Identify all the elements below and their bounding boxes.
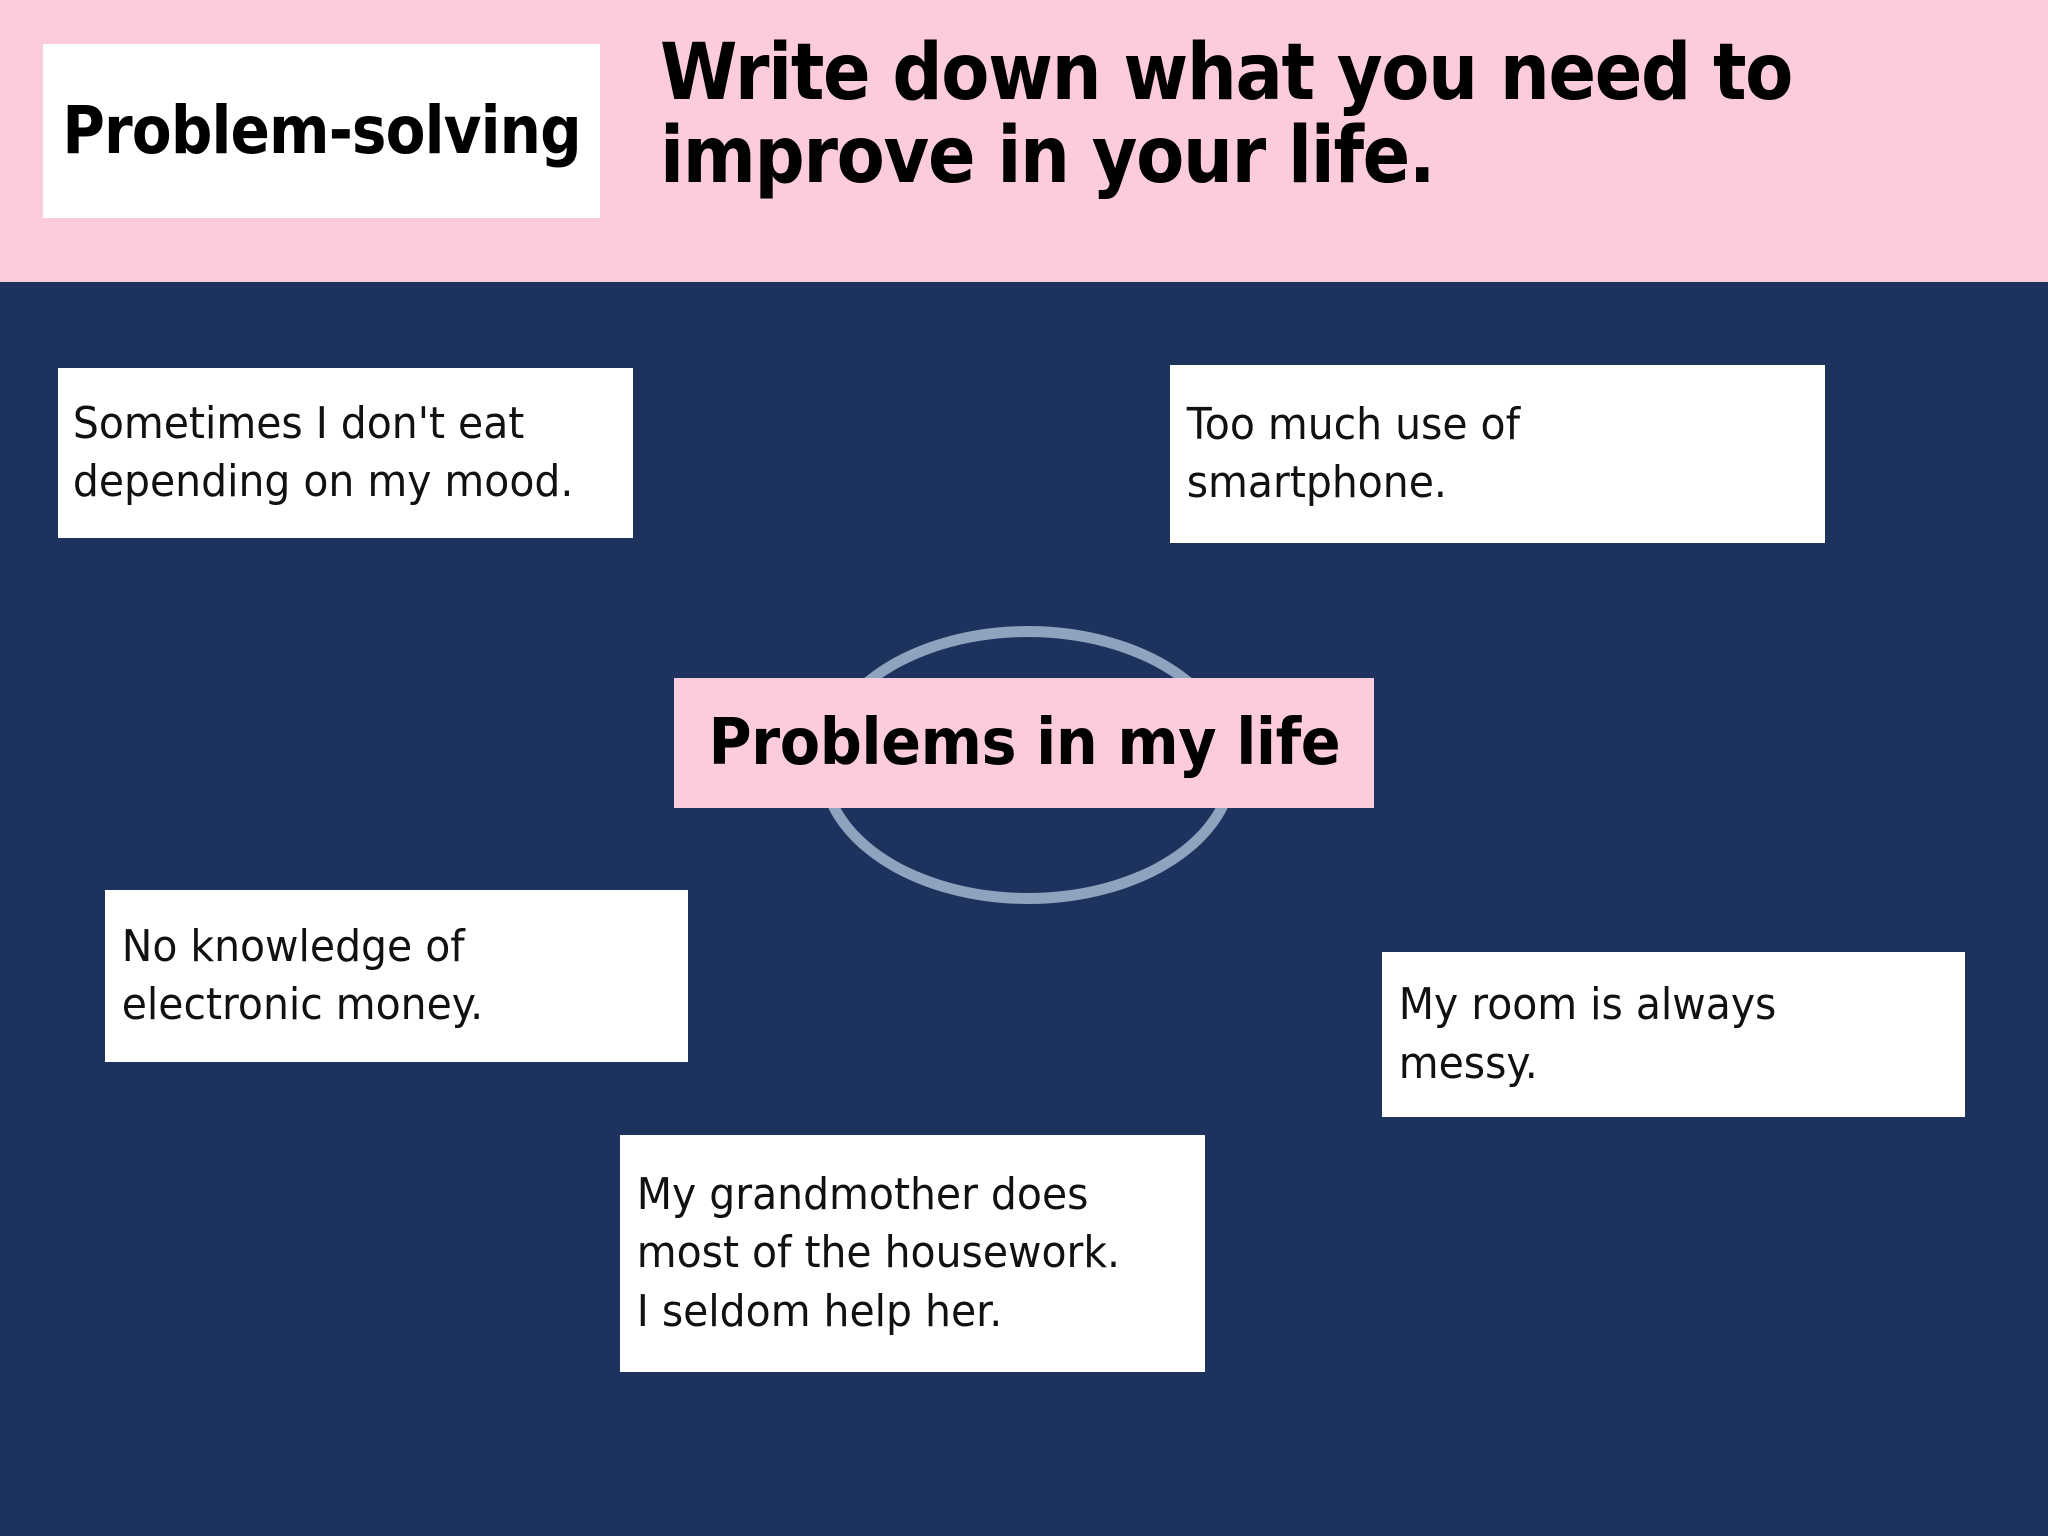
idea-note-text: My grandmother does most of the housewor… bbox=[620, 1166, 1120, 1340]
idea-note: My room is always messy. bbox=[1382, 952, 1965, 1117]
center-topic-box: Problems in my life bbox=[674, 678, 1374, 808]
slide-canvas: Problem-solving Write down what you need… bbox=[0, 0, 2048, 1536]
header-band: Problem-solving Write down what you need… bbox=[0, 0, 2048, 282]
page-title-line-1: Write down what you need to bbox=[660, 32, 1866, 115]
page-title: Write down what you need to improve in y… bbox=[660, 32, 2000, 197]
idea-note-text: Sometimes I don't eat depending on my mo… bbox=[58, 395, 573, 511]
idea-note: My grandmother does most of the housewor… bbox=[620, 1135, 1205, 1372]
idea-note-text: My room is always messy. bbox=[1382, 976, 1924, 1092]
idea-note: Too much use of smartphone. bbox=[1170, 365, 1825, 543]
idea-note-text: No knowledge of electronic money. bbox=[105, 918, 483, 1034]
idea-note: No knowledge of electronic money. bbox=[105, 890, 688, 1062]
section-label-text: Problem-solving bbox=[62, 98, 580, 164]
center-topic-label: Problems in my life bbox=[708, 711, 1340, 775]
idea-note-text: Too much use of smartphone. bbox=[1170, 396, 1779, 512]
idea-note: Sometimes I don't eat depending on my mo… bbox=[58, 368, 633, 538]
page-title-line-2: improve in your life. bbox=[660, 115, 1866, 198]
section-label-box: Problem-solving bbox=[43, 44, 600, 218]
